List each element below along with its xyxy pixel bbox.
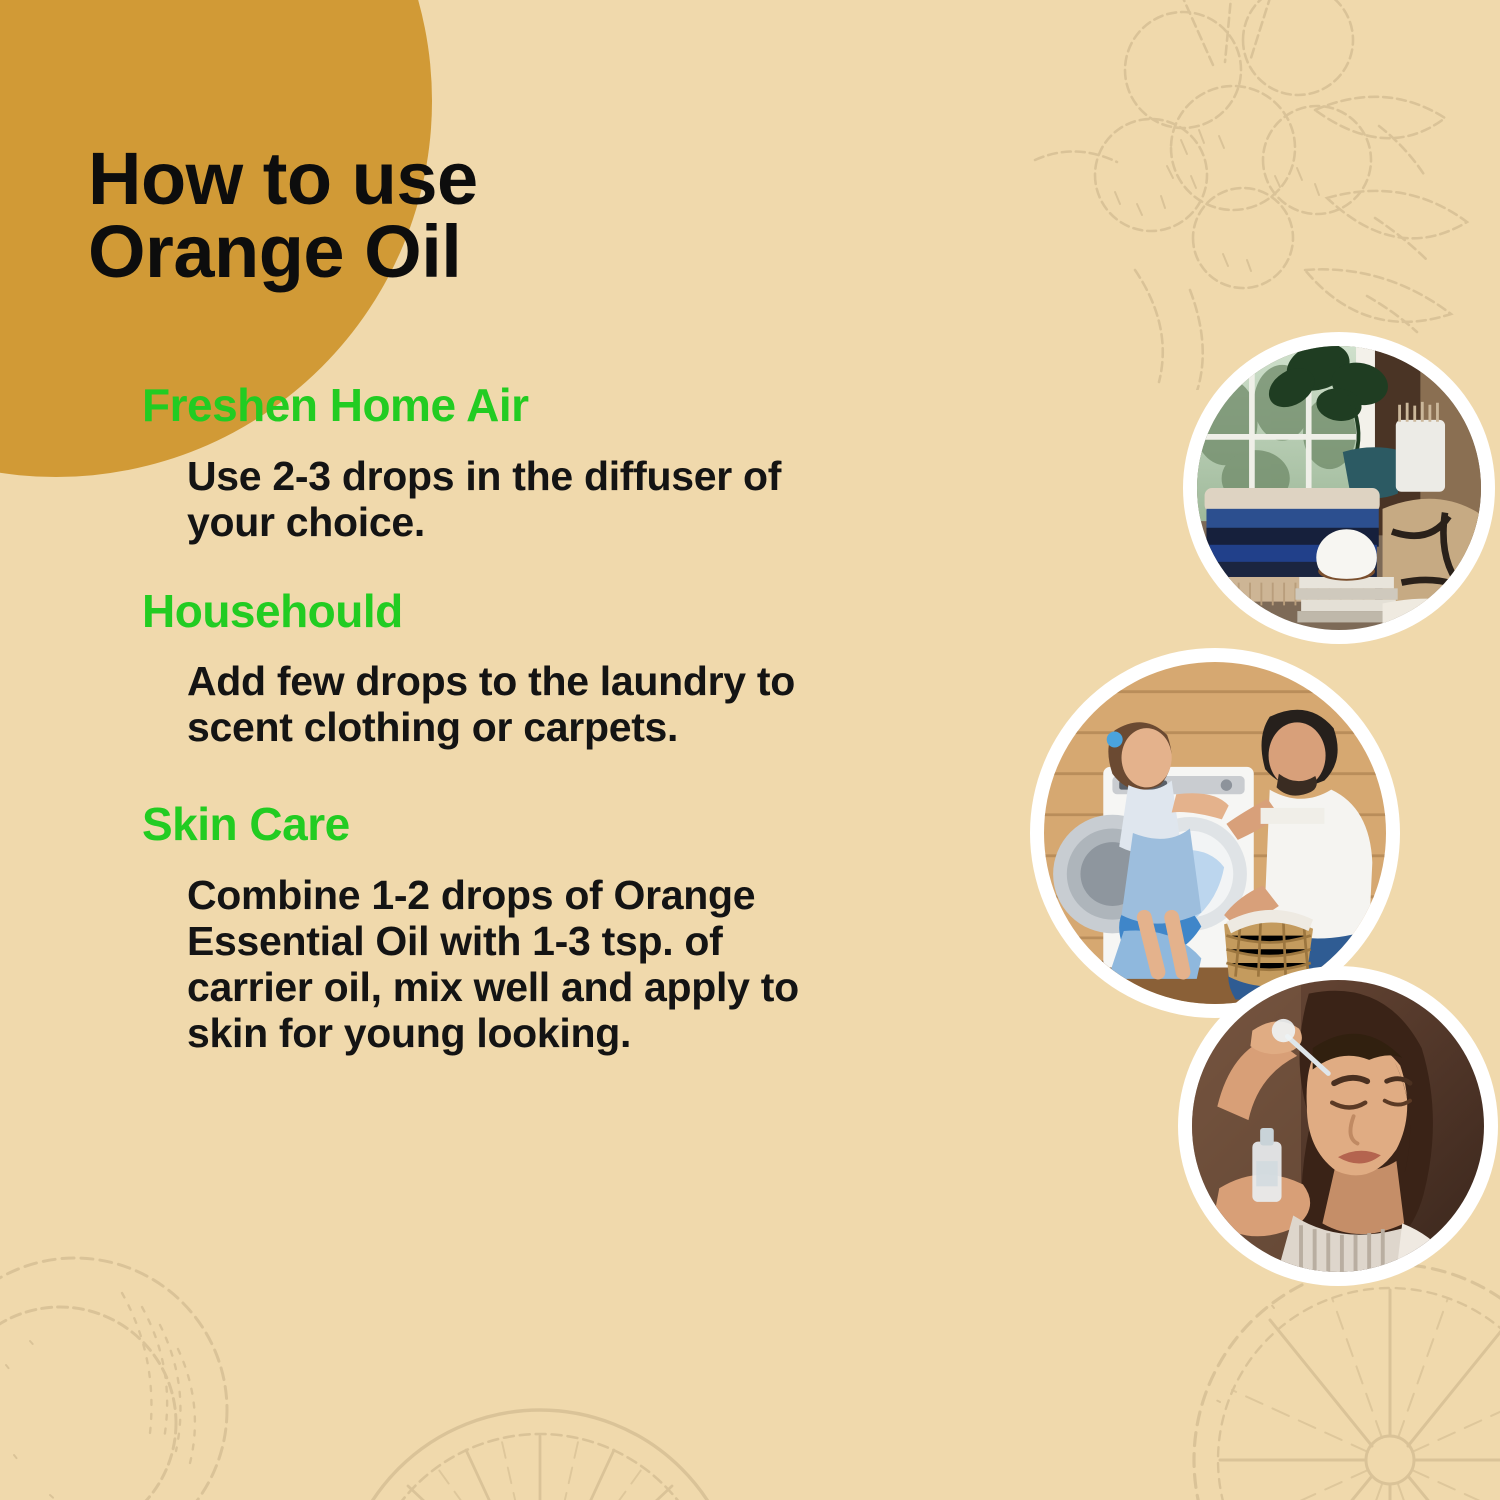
section-body: Add few drops to the laundry to scent cl… (187, 659, 827, 751)
infographic-page: How to use Orange Oil Freshen Home Air U… (0, 0, 1500, 1500)
skincare-illustration (1192, 980, 1484, 1272)
whole-orange-sketch (0, 1245, 240, 1500)
section-body: Use 2-3 drops in the diffuser of your ch… (187, 454, 827, 546)
section-body: Combine 1-2 drops of Orange Essential Oi… (187, 873, 827, 1057)
section-heading: Freshen Home Air (142, 382, 862, 430)
photo-image (1192, 980, 1484, 1272)
section-freshen-home-air: Freshen Home Air Use 2-3 drops in the di… (142, 382, 862, 546)
orange-slice-sketch (1180, 1250, 1500, 1500)
section-skin-care: Skin Care Combine 1-2 drops of Orange Es… (142, 801, 862, 1056)
skincare-serum-photo (1178, 966, 1498, 1286)
living-room-illustration (1197, 346, 1481, 630)
page-title-line-1: How to use (88, 143, 708, 216)
usage-sections: Freshen Home Air Use 2-3 drops in the di… (142, 382, 862, 1057)
laundry-illustration (1044, 662, 1386, 1004)
section-heading: Skin Care (142, 801, 862, 849)
photo-image (1197, 346, 1481, 630)
orange-branch-sketch (975, 0, 1500, 390)
section-heading: Househould (142, 588, 862, 636)
photo-image (1044, 662, 1386, 1004)
laundry-family-photo (1030, 648, 1400, 1018)
orange-slice-sketch (330, 1320, 750, 1500)
page-title: How to use Orange Oil (88, 143, 708, 288)
section-household: Househould Add few drops to the laundry … (142, 588, 862, 752)
page-title-line-2: Orange Oil (88, 216, 708, 289)
diffuser-living-room-photo (1183, 332, 1495, 644)
